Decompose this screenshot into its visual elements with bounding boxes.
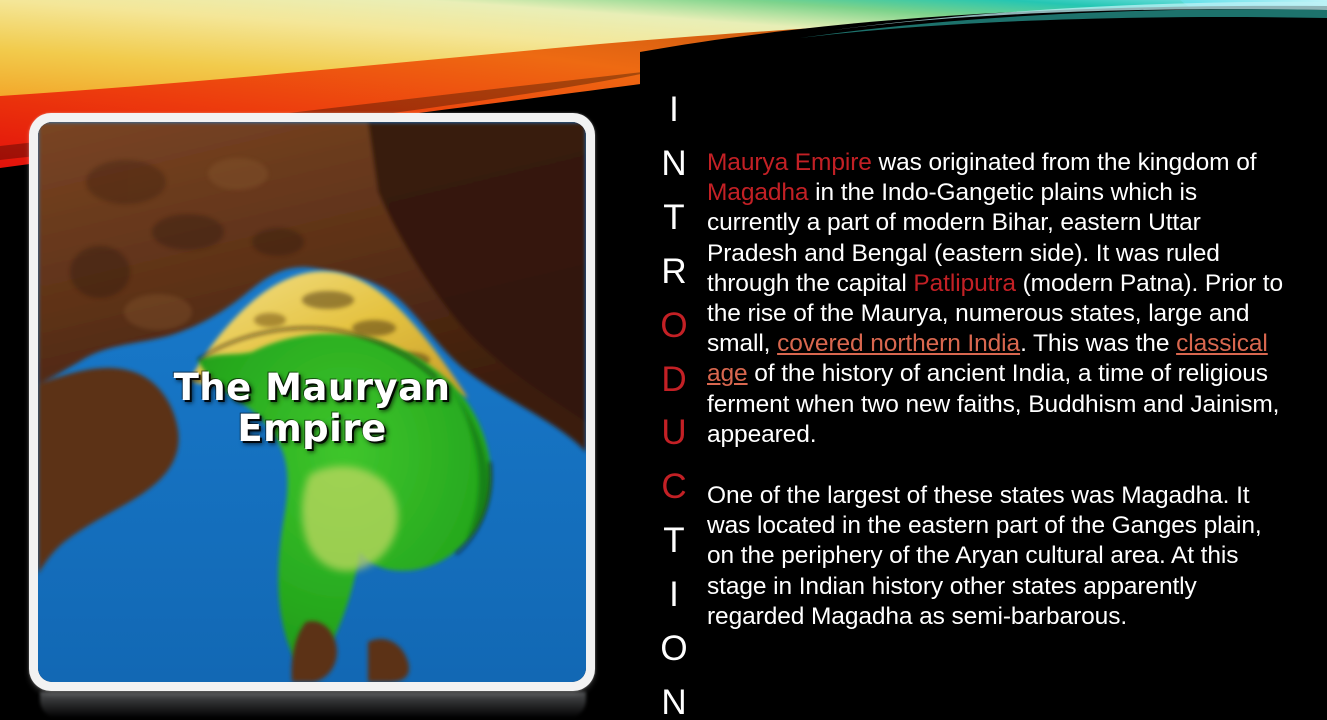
hyperlink-6[interactable]: covered northern India: [777, 330, 1020, 357]
slide-canvas: The Mauryan Empire INTRODUCTION Maurya E…: [0, 0, 1327, 720]
text-run-1: was originated from the kingdom of: [872, 149, 1257, 176]
map-image-frame[interactable]: The Mauryan Empire: [29, 113, 595, 691]
highlighted-term-4: Patliputra: [913, 270, 1016, 297]
vertical-title-letter-10: O: [660, 631, 687, 666]
vertical-title-letter-5: D: [661, 362, 686, 397]
vertical-section-title: INTRODUCTION: [645, 92, 703, 720]
vertical-title-letter-3: R: [661, 254, 686, 289]
vertical-title-letter-6: U: [661, 415, 686, 450]
swoosh-pale-edge: [820, 2, 1327, 32]
paragraph-introduction: Maurya Empire was originated from the ki…: [707, 148, 1289, 450]
vertical-title-letter-0: I: [669, 92, 679, 127]
vertical-title-letter-1: N: [661, 146, 686, 181]
photo-frame-reflection: [40, 692, 586, 718]
paragraph-magadha: One of the largest of these states was M…: [707, 481, 1289, 632]
vertical-title-letter-8: T: [663, 523, 684, 558]
highlighted-term-2: Magadha: [707, 179, 808, 206]
text-run-9: of the history of ancient India, a time …: [707, 360, 1279, 447]
vertical-title-letter-7: C: [661, 469, 686, 504]
swoosh-cyan-ribbon: [1180, 0, 1327, 62]
swoosh-black-mask-right: [640, 6, 1327, 170]
swoosh-green-tail: [900, 0, 1327, 62]
vertical-title-letter-11: N: [661, 685, 686, 720]
swoosh-upper-strip: [0, 0, 1327, 98]
highlighted-term-0: Maurya Empire: [707, 149, 872, 176]
mauryan-empire-map-graphic: [38, 122, 586, 682]
map-image: The Mauryan Empire: [38, 122, 586, 682]
vertical-title-letter-9: I: [669, 577, 679, 612]
vertical-title-letter-2: T: [663, 200, 684, 235]
text-run-7: . This was the: [1020, 330, 1176, 357]
body-text-column: Maurya Empire was originated from the ki…: [707, 148, 1289, 632]
swoosh-teal-edge: [800, 9, 1327, 38]
vertical-title-letter-4: O: [660, 308, 687, 343]
